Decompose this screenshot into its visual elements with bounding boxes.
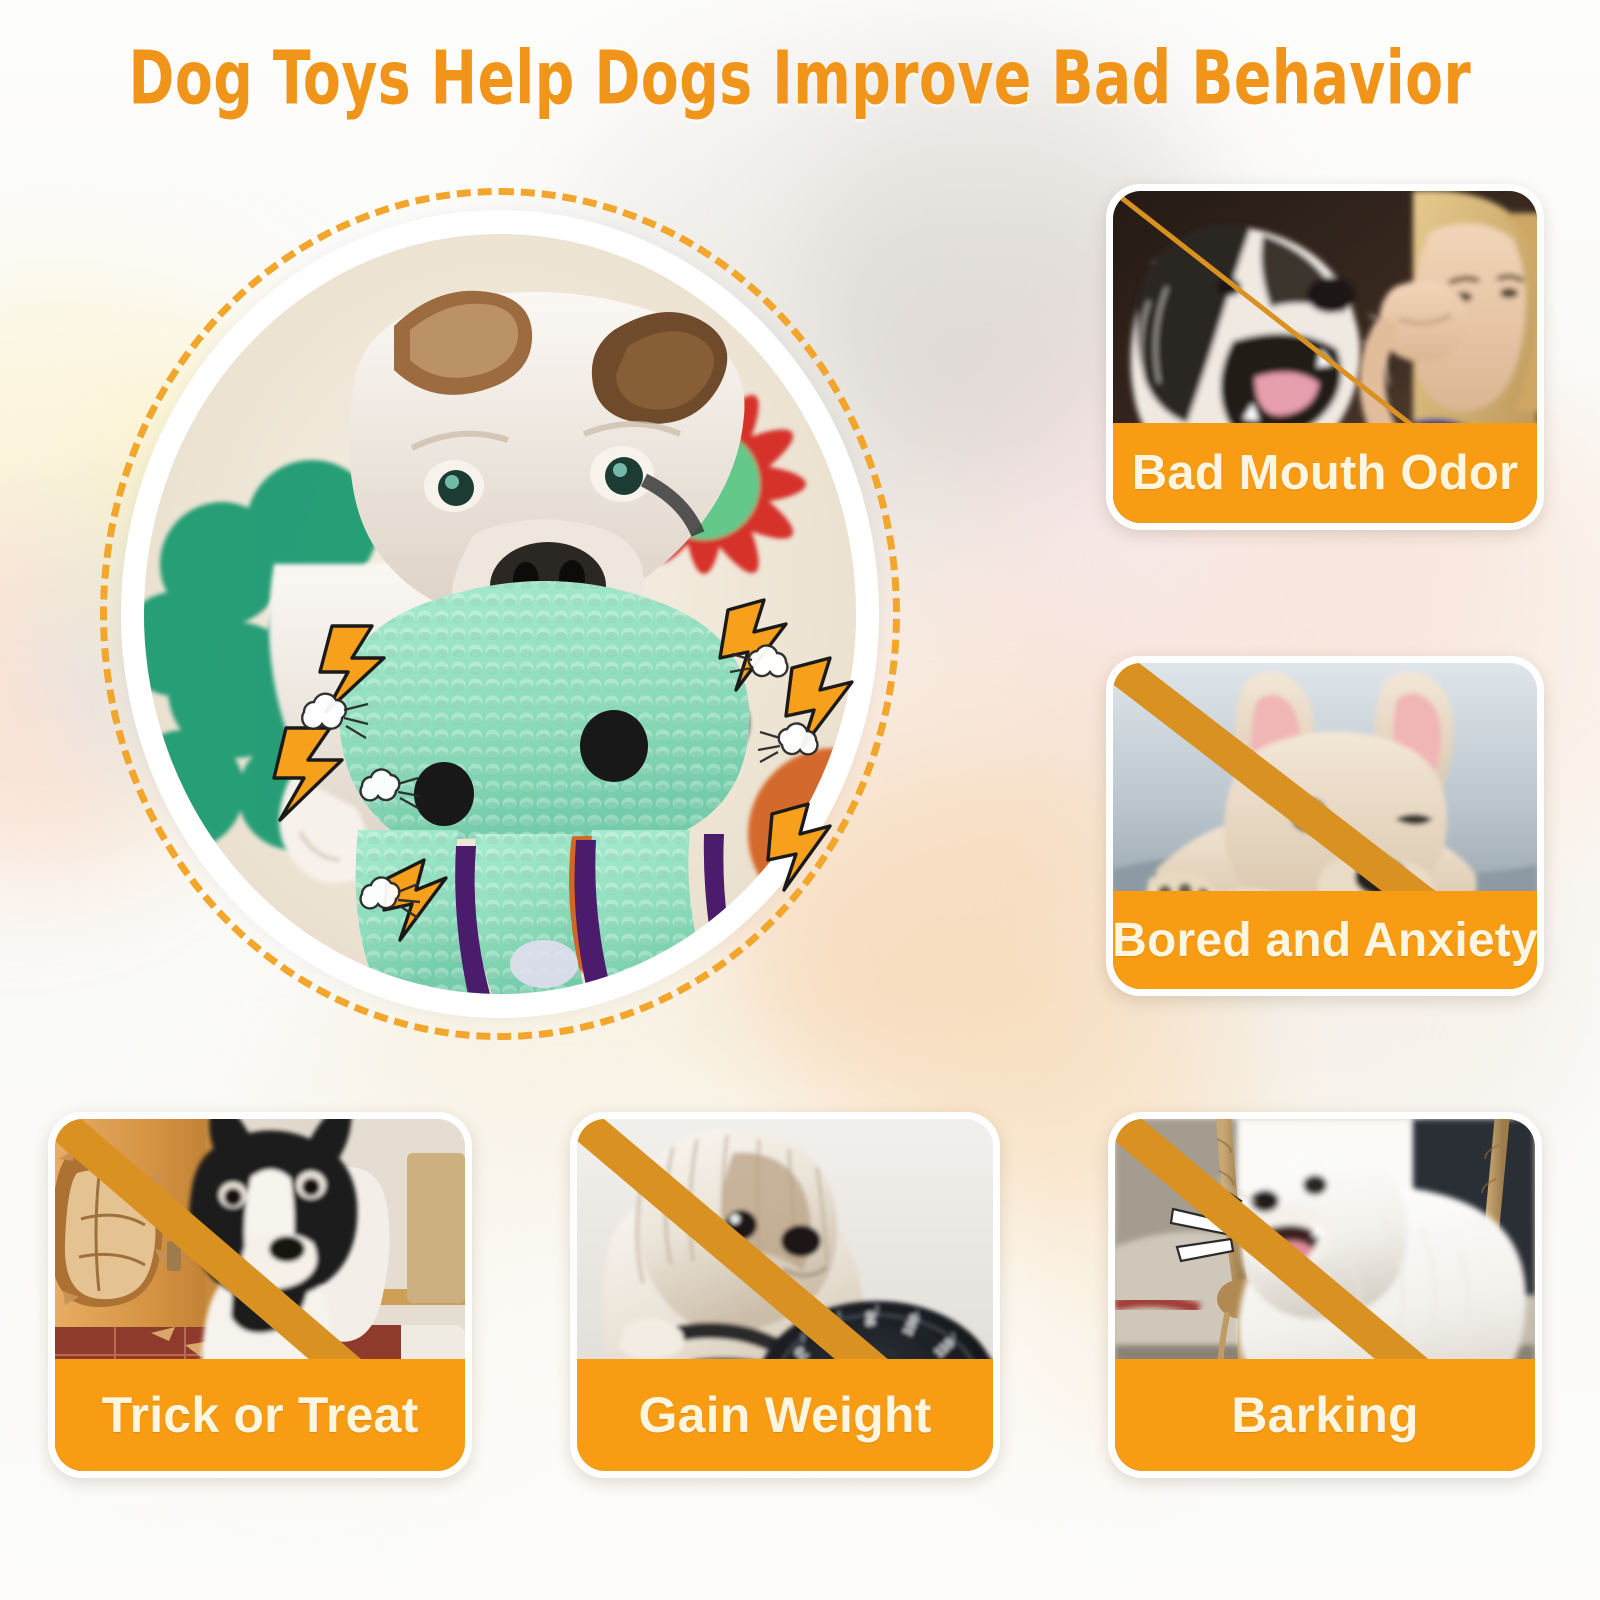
card-inner: Barking [1115,1119,1535,1471]
page-title: Dog Toys Help Dogs Improve Bad Behavior [0,34,1600,122]
card-caption-weight: Gain Weight [577,1359,993,1471]
behavior-card-weight[interactable]: 0 70 80 90 100 110 120 130 140 150 220 2… [570,1112,1000,1478]
behavior-card-bored[interactable]: Bored and Anxiety [1106,656,1544,996]
page-title-text: Dog Toys Help Dogs Improve Bad Behavior [129,35,1472,121]
card-caption-bored: Bored and Anxiety [1113,891,1537,989]
card-inner: Bored and Anxiety [1113,663,1537,989]
hero-photo [144,234,856,994]
card-caption-barking: Barking [1115,1359,1535,1471]
card-caption-odor: Bad Mouth Odor [1113,423,1537,523]
behavior-card-barking[interactable]: Barking [1108,1112,1542,1478]
card-inner: Bad Mouth Odor [1113,191,1537,523]
card-inner: 0 70 80 90 100 110 120 130 140 150 220 2… [577,1119,993,1471]
behavior-card-trick[interactable]: Trick or Treat [48,1112,472,1478]
svg-text:90: 90 [863,1311,878,1326]
card-inner: Trick or Treat [55,1119,465,1471]
hero-product-image [100,188,900,1040]
behavior-card-odor[interactable]: Bad Mouth Odor [1106,184,1544,530]
card-caption-trick: Trick or Treat [55,1359,465,1471]
